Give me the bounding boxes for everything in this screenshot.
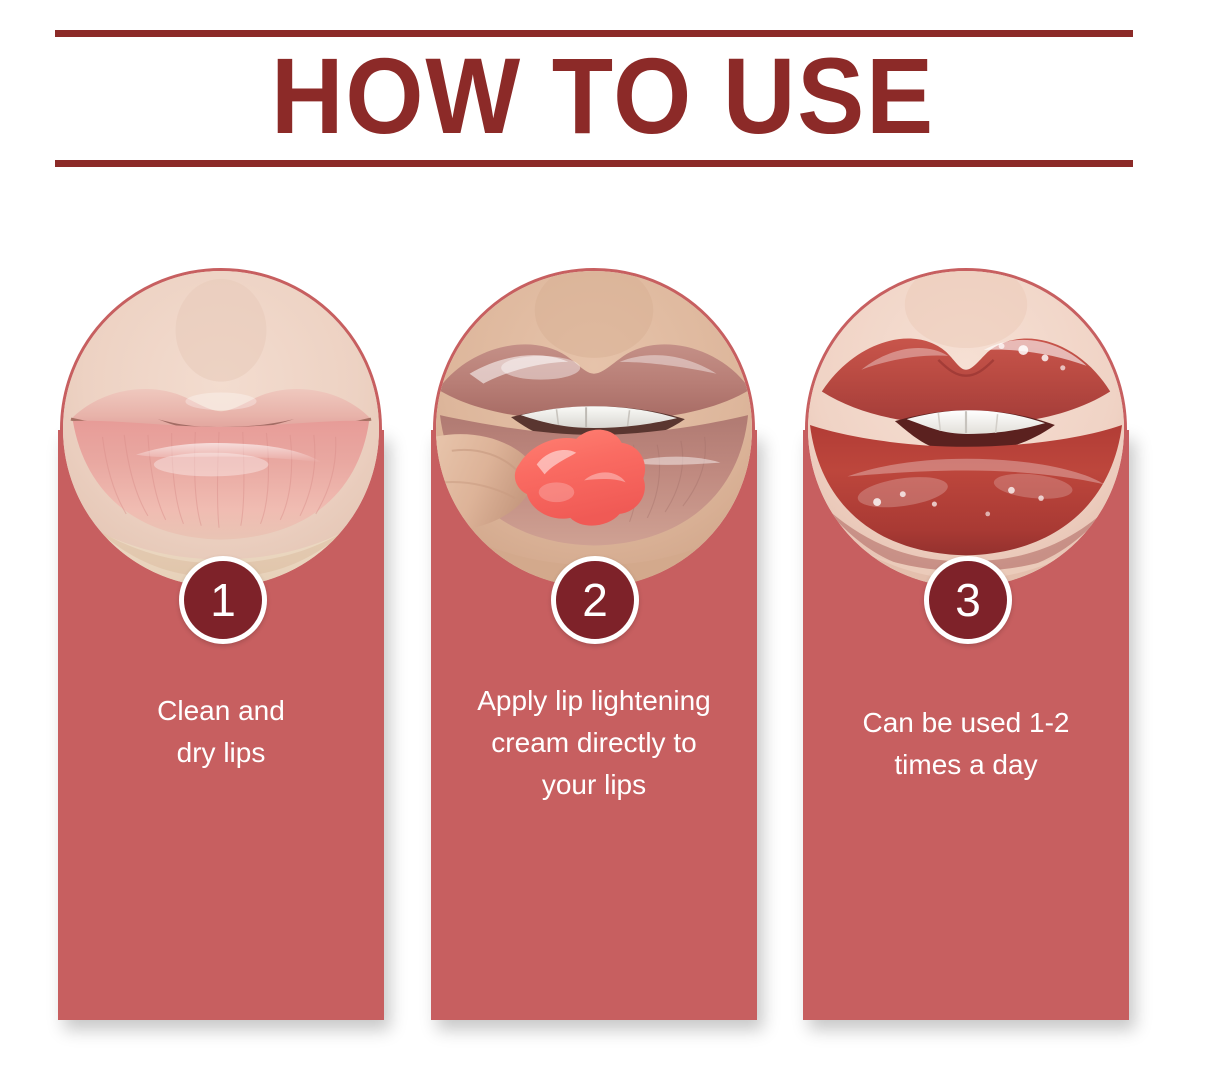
step-caption-3: Can be used 1-2 times a day (809, 702, 1123, 786)
lips-photo-result (805, 268, 1127, 590)
step-badge-1: 1 (179, 556, 267, 644)
lips-illustration-1 (63, 271, 379, 587)
step-badge-3: 3 (924, 556, 1012, 644)
lips-photo-result-inner (808, 271, 1124, 587)
step-caption-2: Apply lip lightening cream directly to y… (437, 680, 751, 806)
lips-photo-apply (433, 268, 755, 590)
step-caption-1: Clean and dry lips (64, 690, 378, 774)
lips-illustration-2 (436, 271, 752, 587)
lips-illustration-3 (808, 271, 1124, 587)
lips-photo-apply-inner (436, 271, 752, 587)
lips-photo-clean-inner (63, 271, 379, 587)
step-badge-2: 2 (551, 556, 639, 644)
lips-photo-clean (60, 268, 382, 590)
how-to-use-infographic: HOW TO USE Clean and dry lips (0, 0, 1206, 1066)
steps-container: Clean and dry lips (0, 0, 1206, 1066)
